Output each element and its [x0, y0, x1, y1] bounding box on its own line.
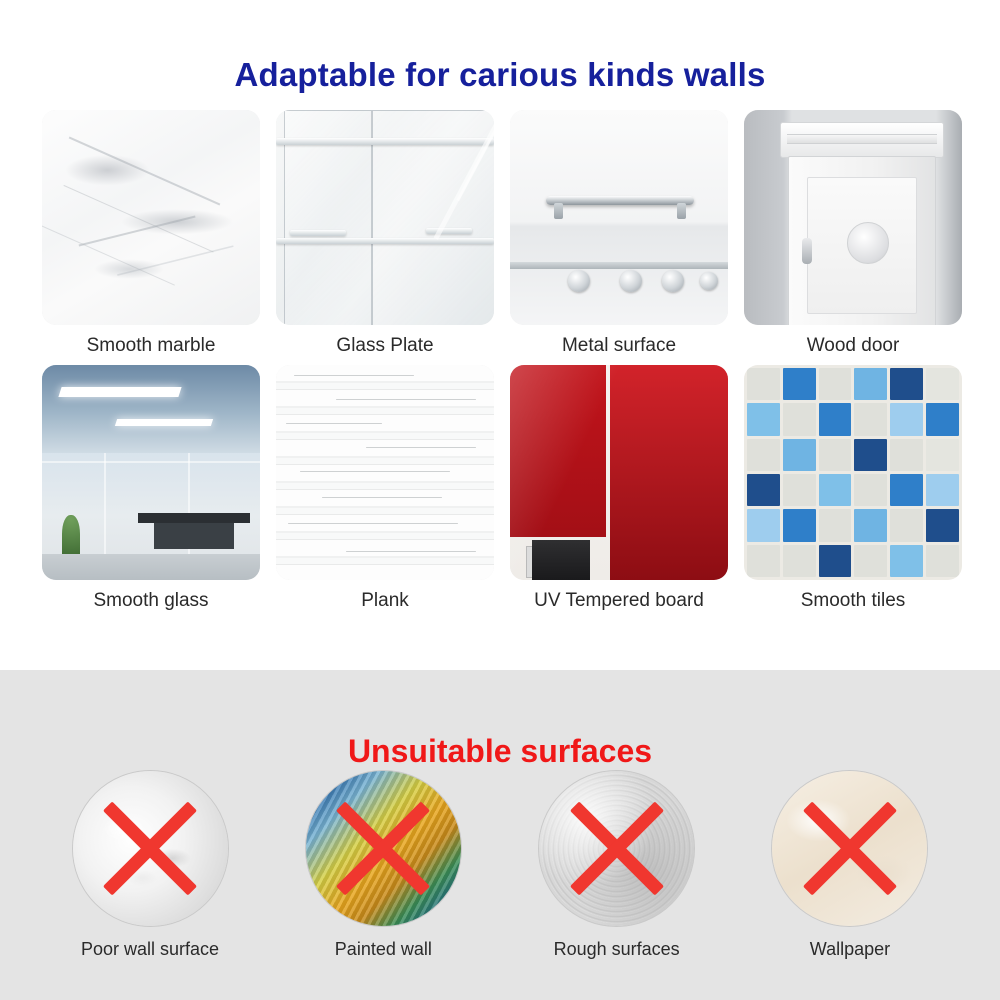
door-crown-molding: [780, 122, 944, 158]
unsuitable-card-poor-wall-surface: Poor wall surface: [50, 770, 250, 960]
surface-caption: Wood door: [744, 335, 962, 357]
oil-paint-strokes-icon: [306, 771, 461, 926]
office-ceiling: [42, 365, 260, 453]
glass-handle: [290, 230, 346, 236]
door-handle: [802, 238, 812, 264]
beige-wallpaper-icon: [772, 771, 927, 926]
mosaic-tile: [890, 509, 923, 541]
grid-row: Smooth glass: [42, 365, 962, 612]
crumbling-plaster-icon: [73, 771, 228, 926]
wood-door-thumbnail: [744, 110, 962, 325]
surface-card-wood-door: Wood door: [744, 110, 962, 357]
mosaic-tile: [747, 403, 780, 435]
mosaic-tile: [819, 368, 852, 400]
rough-surfaces-thumbnail: [538, 770, 695, 927]
wood-door-photo-icon: [744, 110, 962, 325]
mosaic-tile: [783, 545, 816, 577]
surface-card-smooth-glass: Smooth glass: [42, 365, 260, 612]
uv-tempered-board-thumbnail: [510, 365, 728, 580]
glass-handle-2: [426, 228, 472, 234]
promo-page: Adaptable for carious kinds walls Smooth…: [0, 0, 1000, 1000]
ceiling-light-2: [115, 419, 213, 426]
white-plank-texture-icon: [276, 365, 494, 580]
door-medallion: [847, 222, 889, 264]
metal-surface-thumbnail: [510, 110, 728, 325]
glass-rail-top: [276, 138, 494, 145]
glass-plate-photo-icon: [276, 110, 494, 325]
mosaic-tile: [854, 474, 887, 506]
rough-concrete-icon: [539, 771, 694, 926]
plank-grain: [288, 523, 458, 524]
mosaic-tile: [854, 439, 887, 471]
mosaic-tile: [747, 474, 780, 506]
blue-mosaic-tiles-icon: [744, 365, 962, 580]
surface-card-smooth-tiles: Smooth tiles: [744, 365, 962, 612]
glass-frame-line-1: [42, 461, 260, 463]
glass-plate-thumbnail: [276, 110, 494, 325]
mosaic-tile: [854, 368, 887, 400]
mosaic-tile: [926, 545, 959, 577]
plank-grain: [286, 423, 382, 424]
mosaic-tile: [747, 368, 780, 400]
surface-caption: Smooth tiles: [744, 590, 962, 612]
surface-card-uv-tempered-board: UV Tempered board: [510, 365, 728, 612]
mosaic-tile: [819, 439, 852, 471]
mosaic-tile: [819, 545, 852, 577]
surface-caption: Metal surface: [510, 335, 728, 357]
appliance-handle: [546, 196, 694, 205]
mosaic-tile: [783, 403, 816, 435]
mosaic-tile: [890, 545, 923, 577]
office-desk-body: [154, 523, 234, 549]
mosaic-tile: [747, 545, 780, 577]
mosaic-tile: [890, 403, 923, 435]
office-plant: [62, 515, 80, 557]
unsuitable-surfaces-row: Poor wall surface Painted wall Rough sur…: [50, 770, 950, 960]
plank-grain: [346, 551, 476, 552]
mosaic-tile: [890, 439, 923, 471]
unsuitable-caption: Poor wall surface: [50, 939, 250, 960]
plank-grain: [294, 375, 414, 376]
office-floor: [42, 554, 260, 580]
mosaic-tile: [783, 439, 816, 471]
surface-caption: Glass Plate: [276, 335, 494, 357]
unsuitable-card-wallpaper: Wallpaper: [750, 770, 950, 960]
unsuitable-caption: Rough surfaces: [517, 939, 717, 960]
unsuitable-card-rough-surfaces: Rough surfaces: [517, 770, 717, 960]
suitable-surfaces-section: Adaptable for carious kinds walls Smooth…: [0, 0, 1000, 670]
mosaic-tile: [926, 439, 959, 471]
plank-grain: [300, 471, 450, 472]
page-title: Adaptable for carious kinds walls: [0, 56, 1000, 94]
mosaic-tile: [926, 368, 959, 400]
painted-wall-thumbnail: [305, 770, 462, 927]
unsuitable-caption: Wallpaper: [750, 939, 950, 960]
smooth-tiles-thumbnail: [744, 365, 962, 580]
mosaic-tile: [890, 474, 923, 506]
mosaic-tile: [854, 509, 887, 541]
mosaic-tile: [819, 403, 852, 435]
mosaic-tile: [783, 509, 816, 541]
appliance-band: [510, 262, 728, 269]
marble-texture-icon: [42, 110, 260, 325]
smooth-marble-thumbnail: [42, 110, 260, 325]
poor-wall-surface-thumbnail: [72, 770, 229, 927]
glass-rail-mid: [276, 238, 494, 244]
surface-card-metal-surface: Metal surface: [510, 110, 728, 357]
mosaic-tile: [747, 509, 780, 541]
surface-card-smooth-marble: Smooth marble: [42, 110, 260, 357]
surface-card-plank: Plank: [276, 365, 494, 612]
metal-surface-photo-icon: [510, 110, 728, 325]
mosaic-tile: [890, 368, 923, 400]
uv-board-gloss: [510, 365, 728, 580]
unsuitable-surfaces-section: Unsuitable surfaces Poor wall surface Pa…: [0, 670, 1000, 1000]
mosaic-tile: [926, 403, 959, 435]
surface-caption: Smooth glass: [42, 590, 260, 612]
surface-caption: UV Tempered board: [510, 590, 728, 612]
plank-grain: [336, 399, 476, 400]
plank-grain: [366, 447, 476, 448]
plank-grain: [322, 497, 442, 498]
unsuitable-title: Unsuitable surfaces: [0, 733, 1000, 770]
appliance-knob-1: [568, 270, 590, 292]
appliance-knob-2: [620, 270, 642, 292]
unsuitable-caption: Painted wall: [283, 939, 483, 960]
smooth-glass-thumbnail: [42, 365, 260, 580]
mosaic-tile: [854, 403, 887, 435]
mosaic-tile: [819, 509, 852, 541]
wallpaper-thumbnail: [771, 770, 928, 927]
appliance-knob-3: [662, 270, 684, 292]
mosaic-tile: [926, 474, 959, 506]
surface-card-glass-plate: Glass Plate: [276, 110, 494, 357]
unsuitable-card-painted-wall: Painted wall: [283, 770, 483, 960]
office-glass-photo-icon: [42, 365, 260, 580]
surface-caption: Smooth marble: [42, 335, 260, 357]
mosaic-tile: [783, 474, 816, 506]
surface-caption: Plank: [276, 590, 494, 612]
appliance-knob-4: [700, 272, 718, 290]
suitable-surfaces-grid: Smooth marble: [42, 110, 962, 620]
mosaic-tile: [854, 545, 887, 577]
mosaic-tile: [783, 368, 816, 400]
red-uv-board-photo-icon: [510, 365, 728, 580]
mosaic-tile: [819, 474, 852, 506]
grid-row: Smooth marble: [42, 110, 962, 357]
mosaic-tile: [747, 439, 780, 471]
office-desk-top: [138, 513, 250, 523]
ceiling-light-1: [58, 387, 181, 397]
plank-thumbnail: [276, 365, 494, 580]
mosaic-tile: [926, 509, 959, 541]
